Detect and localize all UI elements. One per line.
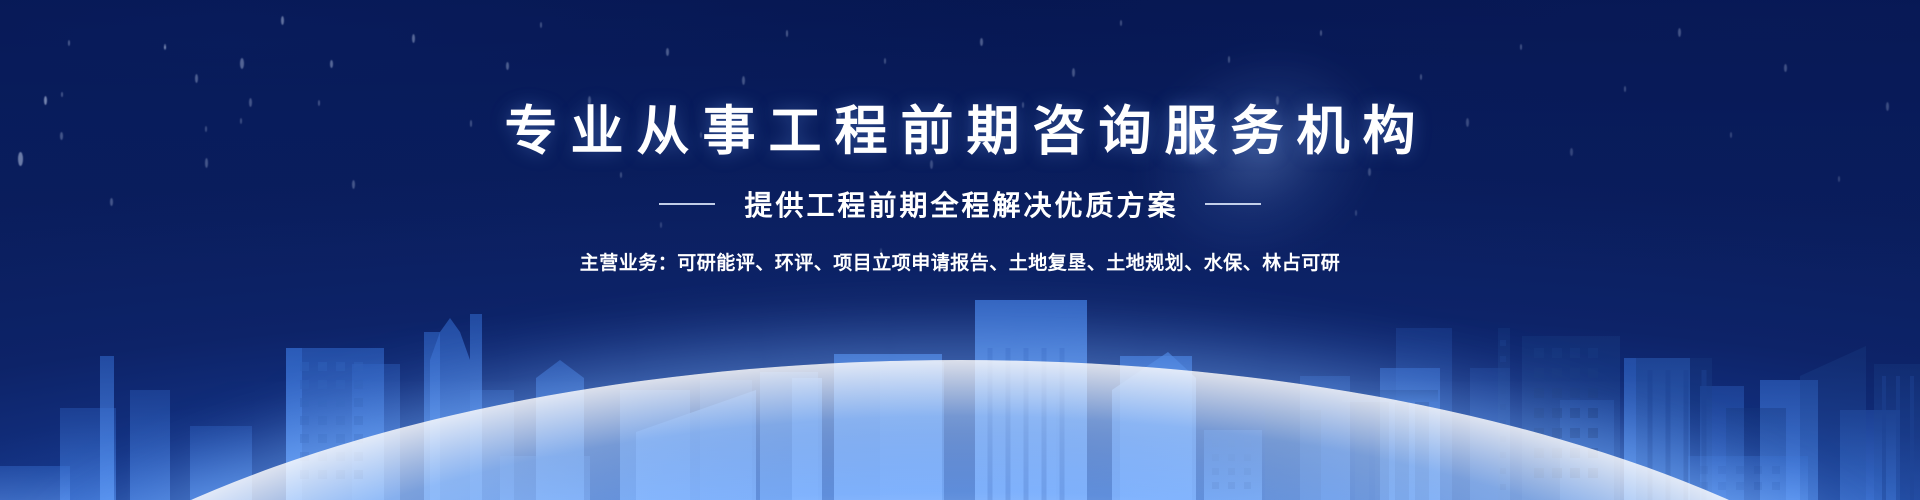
page-title: 专业从事工程前期咨询服务机构 [492, 102, 1429, 163]
right-rule-decoration [1205, 203, 1261, 205]
page-subtitle: 提供工程前期全程解决优质方案 [741, 184, 1178, 224]
hero-banner: 专业从事工程前期咨询服务机构 提供工程前期全程解决优质方案 主营业务：可研能评、… [0, 0, 1920, 500]
services-line: 主营业务：可研能评、环评、项目立项申请报告、土地复垦、土地规划、水保、林占可研 [580, 248, 1341, 275]
banner-content: 专业从事工程前期咨询服务机构 提供工程前期全程解决优质方案 主营业务：可研能评、… [0, 0, 1920, 500]
left-rule-decoration [659, 203, 715, 205]
subtitle-row: 提供工程前期全程解决优质方案 [659, 184, 1260, 224]
